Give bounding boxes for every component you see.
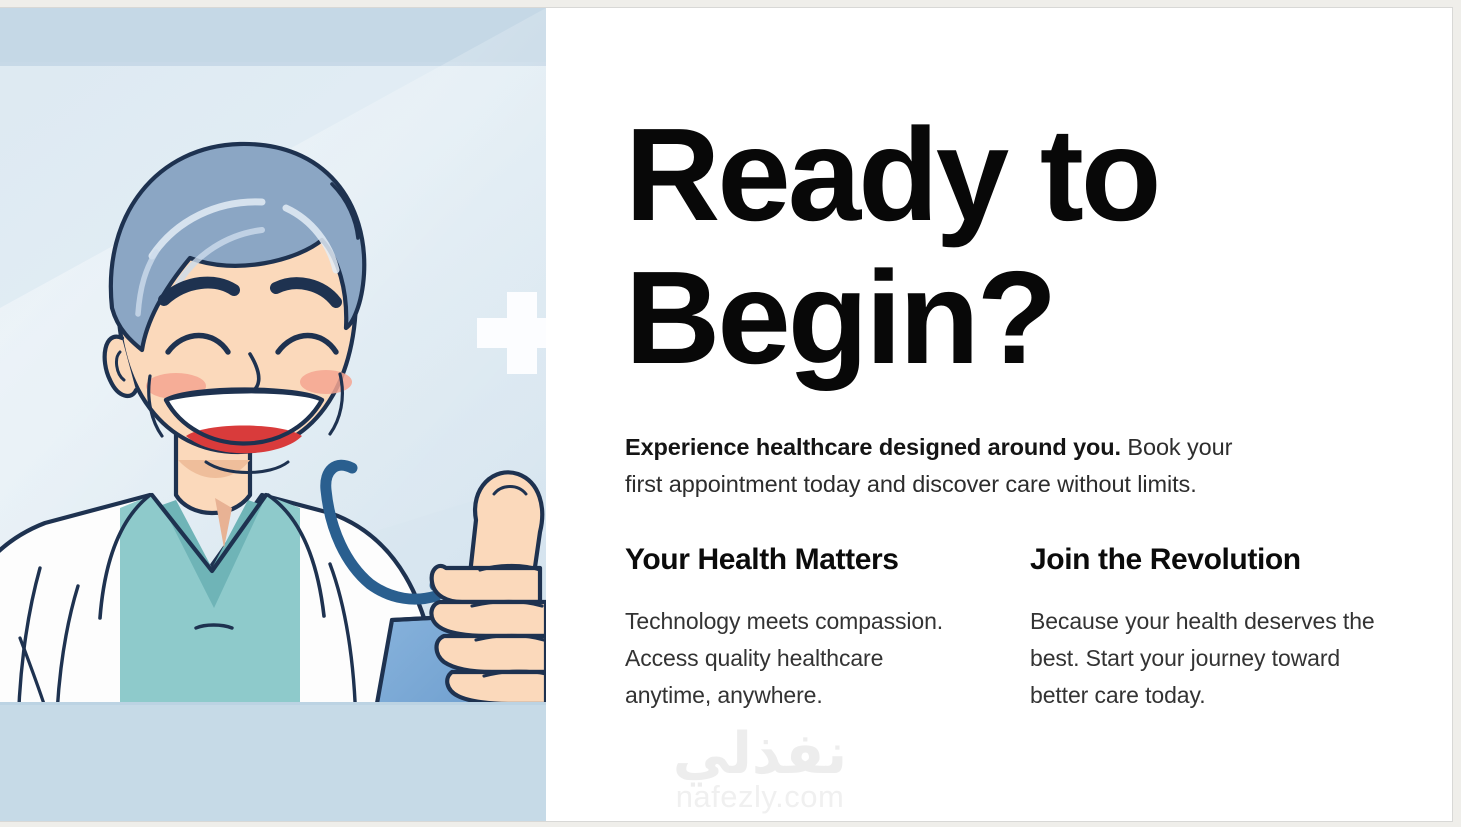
feature-columns: Your Health Matters Technology meets com…: [625, 543, 1415, 714]
page-title: Ready to Begin?: [625, 103, 1425, 389]
content-panel: Ready to Begin? Experience healthcare de…: [546, 8, 1452, 822]
page-canvas: Ready to Begin? Experience healthcare de…: [0, 7, 1453, 822]
feature-title-revolution: Join the Revolution: [1030, 543, 1415, 577]
feature-column-revolution: Join the Revolution Because your health …: [1030, 543, 1415, 714]
lead-paragraph: Experience healthcare designed around yo…: [625, 429, 1273, 503]
doctor-illustration: [0, 8, 546, 822]
watermark-domain-text: nafezly.com: [625, 780, 895, 814]
page-frame: Ready to Begin? Experience healthcare de…: [0, 0, 1461, 827]
feature-body-revolution: Because your health deserves the best. S…: [1030, 603, 1375, 714]
watermark: نفذلي nafezly.com: [625, 724, 895, 814]
lead-emphasis: Experience healthcare designed around yo…: [625, 434, 1121, 460]
feature-column-health: Your Health Matters Technology meets com…: [625, 543, 1030, 714]
illustration-panel: [0, 8, 546, 822]
feature-body-health: Technology meets compassion. Access qual…: [625, 603, 970, 714]
feature-title-health: Your Health Matters: [625, 543, 1030, 577]
watermark-arabic-text: نفذلي: [625, 724, 895, 784]
